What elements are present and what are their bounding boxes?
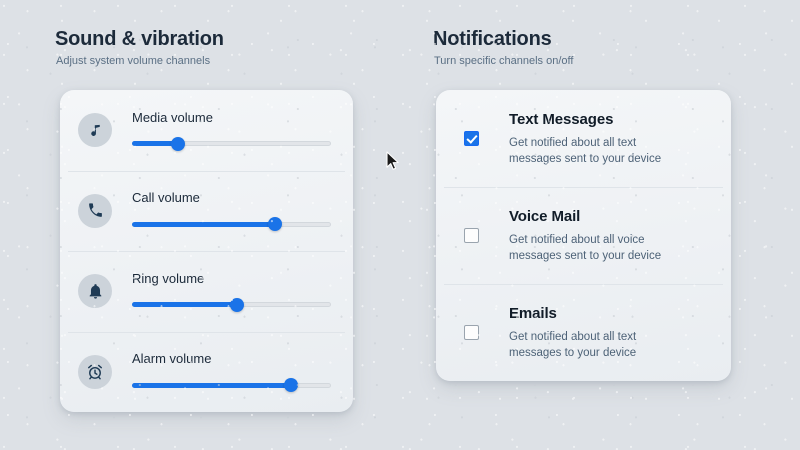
sound-panel-title: Sound & vibration (55, 28, 224, 51)
slider-thumb[interactable] (268, 217, 282, 231)
volume-row-alarm[interactable]: Alarm volume (60, 332, 353, 413)
notifications-panel-title: Notifications (433, 28, 552, 51)
notification-row-text-messages[interactable]: Text Messages Get notified about all tex… (436, 90, 731, 187)
notification-row-emails[interactable]: Emails Get notified about all text messa… (436, 284, 731, 381)
alarm-clock-icon (78, 355, 112, 389)
music-note-icon (78, 113, 112, 147)
volume-label-ring: Ring volume (132, 271, 331, 286)
volume-body-media: Media volume (132, 110, 353, 151)
slider-fill (132, 222, 275, 227)
volume-body-alarm: Alarm volume (132, 351, 353, 392)
notification-description-voice-mail: Get notified about all voice messages se… (509, 232, 685, 264)
volume-slider-media[interactable] (132, 137, 331, 151)
volume-label-media: Media volume (132, 110, 331, 125)
notification-row-voice-mail[interactable]: Voice Mail Get notified about all voice … (436, 187, 731, 284)
slider-thumb[interactable] (284, 378, 298, 392)
notification-body-text-messages: Text Messages Get notified about all tex… (509, 111, 711, 167)
volume-row-call[interactable]: Call volume (60, 171, 353, 252)
notification-description-text-messages: Get notified about all text messages sen… (509, 135, 685, 167)
volume-row-ring[interactable]: Ring volume (60, 251, 353, 332)
volume-body-ring: Ring volume (132, 271, 353, 312)
notification-description-emails: Get notified about all text messages to … (509, 329, 685, 361)
slider-thumb[interactable] (230, 298, 244, 312)
notifications-panel-subtitle: Turn specific channels on/off (434, 55, 573, 67)
notification-body-voice-mail: Voice Mail Get notified about all voice … (509, 208, 711, 264)
volume-row-media[interactable]: Media volume (60, 90, 353, 171)
notification-channels-card: Text Messages Get notified about all tex… (436, 90, 731, 381)
checkbox-voice-mail[interactable] (464, 228, 479, 243)
volume-label-call: Call volume (132, 190, 331, 205)
notification-body-emails: Emails Get notified about all text messa… (509, 305, 711, 361)
slider-fill (132, 302, 237, 307)
slider-fill (132, 383, 291, 388)
slider-thumb[interactable] (171, 137, 185, 151)
notification-title-emails: Emails (509, 305, 711, 322)
bell-icon (78, 274, 112, 308)
volume-label-alarm: Alarm volume (132, 351, 331, 366)
phone-handset-icon (78, 194, 112, 228)
arrow-pointer-icon (386, 151, 400, 176)
notification-title-voice-mail: Voice Mail (509, 208, 711, 225)
checkbox-emails[interactable] (464, 325, 479, 340)
volume-sliders-card: Media volume Call volume (60, 90, 353, 412)
volume-body-call: Call volume (132, 190, 353, 231)
sound-panel-subtitle: Adjust system volume channels (56, 55, 210, 67)
notification-title-text-messages: Text Messages (509, 111, 711, 128)
volume-slider-call[interactable] (132, 217, 331, 231)
volume-slider-alarm[interactable] (132, 378, 331, 392)
volume-slider-ring[interactable] (132, 298, 331, 312)
checkbox-text-messages[interactable] (464, 131, 479, 146)
